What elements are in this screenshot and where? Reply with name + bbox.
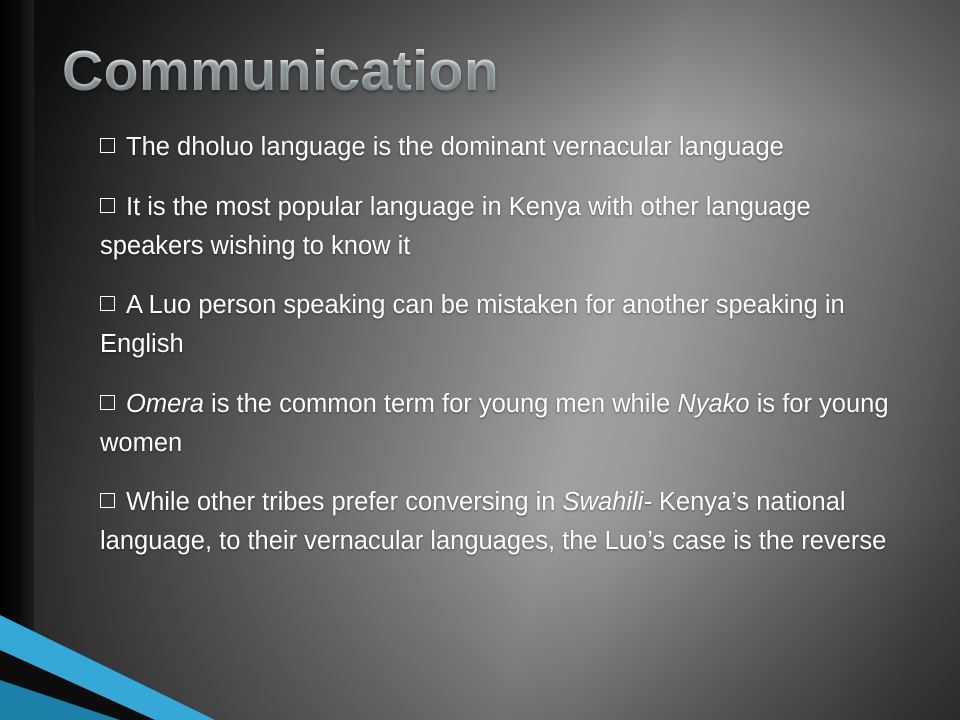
bullet-list: The dholuo language is the dominant vern…	[100, 128, 900, 561]
bullet-text-emphasis: Nyako	[677, 390, 756, 418]
bullet-text-emphasis: Swahili-	[563, 488, 652, 516]
slide: Communication The dholuo language is the…	[0, 0, 960, 720]
list-item: While other tribes prefer conversing in …	[100, 483, 900, 561]
decorative-triangle-blue-dark	[0, 680, 120, 720]
bullet-text-emphasis: Omera	[126, 390, 211, 418]
bullet-text: While other tribes prefer conversing in	[126, 488, 563, 516]
square-outline-bullet-icon	[100, 198, 115, 213]
bullet-text: It is the most popular language in Kenya…	[100, 193, 811, 260]
square-outline-bullet-icon	[100, 395, 115, 410]
list-item: Omera is the common term for young men w…	[100, 385, 900, 463]
list-item: The dholuo language is the dominant vern…	[100, 128, 900, 167]
bullet-text: The dholuo language is the dominant vern…	[126, 133, 784, 161]
list-item: A Luo person speaking can be mistaken fo…	[100, 286, 900, 364]
square-outline-bullet-icon	[100, 296, 115, 311]
left-dark-band	[0, 0, 34, 720]
page-title: Communication	[62, 38, 499, 104]
bullet-text: is the common term for young men while	[211, 390, 677, 418]
bullet-text: A Luo person speaking can be mistaken fo…	[100, 291, 845, 358]
list-item: It is the most popular language in Kenya…	[100, 188, 900, 266]
square-outline-bullet-icon	[100, 138, 115, 153]
square-outline-bullet-icon	[100, 493, 115, 508]
